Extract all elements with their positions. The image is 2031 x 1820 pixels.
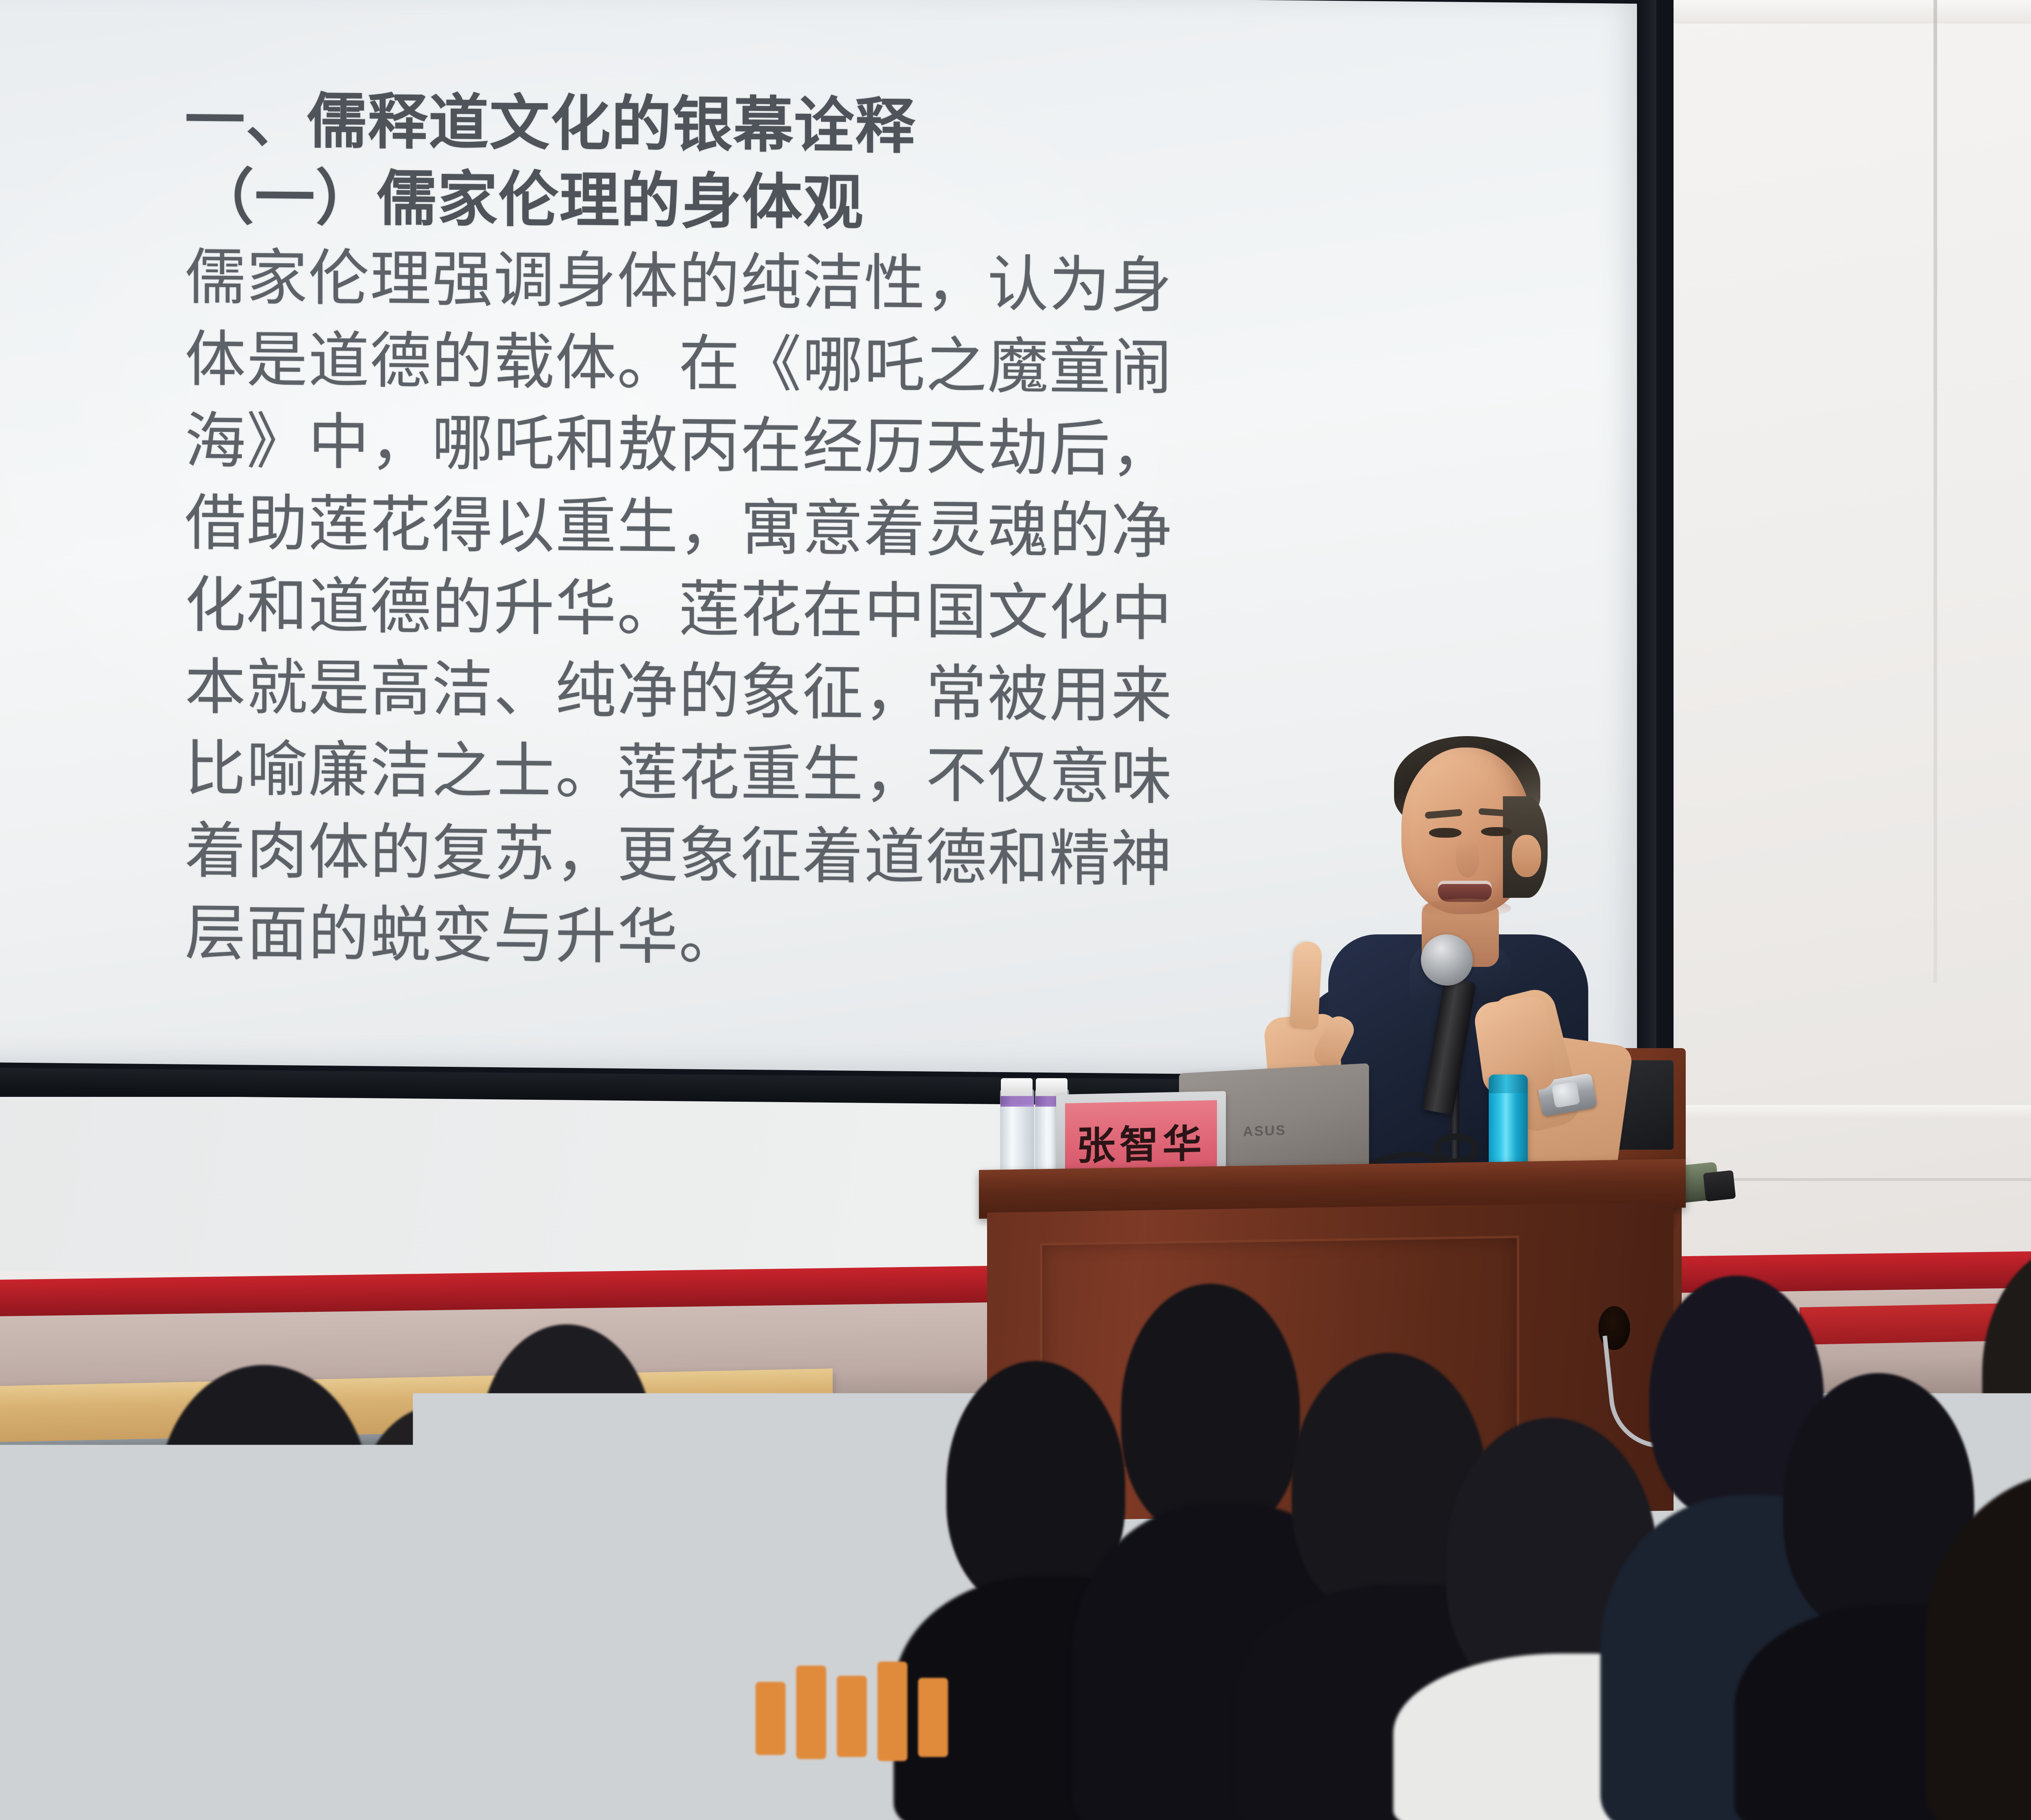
slide-body-line-7: 比喻廉洁之士。莲花重生，不仅意味	[185, 729, 1131, 819]
wall-seam	[1934, 0, 1937, 983]
thermos-lid	[1489, 1075, 1528, 1093]
bottle-cap	[51, 1651, 93, 1681]
speaker-ear	[1512, 835, 1541, 877]
audience-head	[1121, 1284, 1300, 1536]
bottle-cap	[1001, 1078, 1033, 1096]
slide-body-line-2: 体是道德的载体。在《哪吒之魔童闹	[185, 319, 1131, 409]
slide-content: 一、儒释道文化的银幕诠释 （一）儒家伦理的身体观 儒家伦理强调身体的纯洁性，认为…	[185, 83, 1131, 983]
nameplate-text: 张智华	[1076, 1111, 1206, 1171]
speaker-eye-left	[1429, 828, 1462, 838]
speaker-eye-right	[1481, 827, 1512, 836]
water-bottle	[530, 1597, 587, 1820]
slide-body-line-9: 层面的蜕变与升华。	[185, 893, 1131, 983]
slide-subheading: （一）儒家伦理的身体观	[194, 159, 1131, 245]
lecture-hall-scene: 一、儒释道文化的银幕诠释 （一）儒家伦理的身体观 儒家伦理强调身体的纯洁性，认为…	[0, 0, 2031, 1820]
ceiling-strip	[1665, 0, 2031, 24]
slide-body-line-4: 借助莲花得以重生，寓意着灵魂的净	[185, 483, 1131, 573]
slide-body-line-6: 本就是高洁、纯净的象征，常被用来	[185, 647, 1131, 737]
wall-conduit	[1665, 1105, 2031, 1120]
bottle-cap	[534, 1595, 582, 1629]
bottle-label	[1000, 1096, 1034, 1107]
slide-body-line-8: 着肉体的复苏，更象征着道德和精神	[185, 811, 1131, 901]
screen-right-edge	[1637, 0, 1656, 1085]
slide-body-line-3: 海》中，哪吒和敖丙在经历天劫后，	[185, 401, 1131, 491]
bottle-label-band	[530, 1796, 587, 1820]
speaker-nose	[1456, 840, 1479, 877]
slide-body-line-5: 化和道德的升华。莲花在中国文化中	[185, 565, 1131, 655]
jacket-patch	[756, 1653, 983, 1779]
second-microphone-tail	[1703, 1170, 1736, 1201]
laptop-brand-label: ASUS	[1243, 1122, 1286, 1140]
right-wall-panel	[1657, 0, 2031, 1337]
slide-heading: 一、儒释道文化的银幕诠释	[185, 83, 1131, 167]
water-bottle	[48, 1653, 97, 1820]
bottle-cap	[1036, 1078, 1067, 1096]
speaker-chin-shadow	[1422, 899, 1511, 918]
slide-body-line-1: 儒家伦理强调身体的纯洁性，认为身	[185, 237, 1131, 327]
speaker-index-finger	[1289, 941, 1322, 1029]
